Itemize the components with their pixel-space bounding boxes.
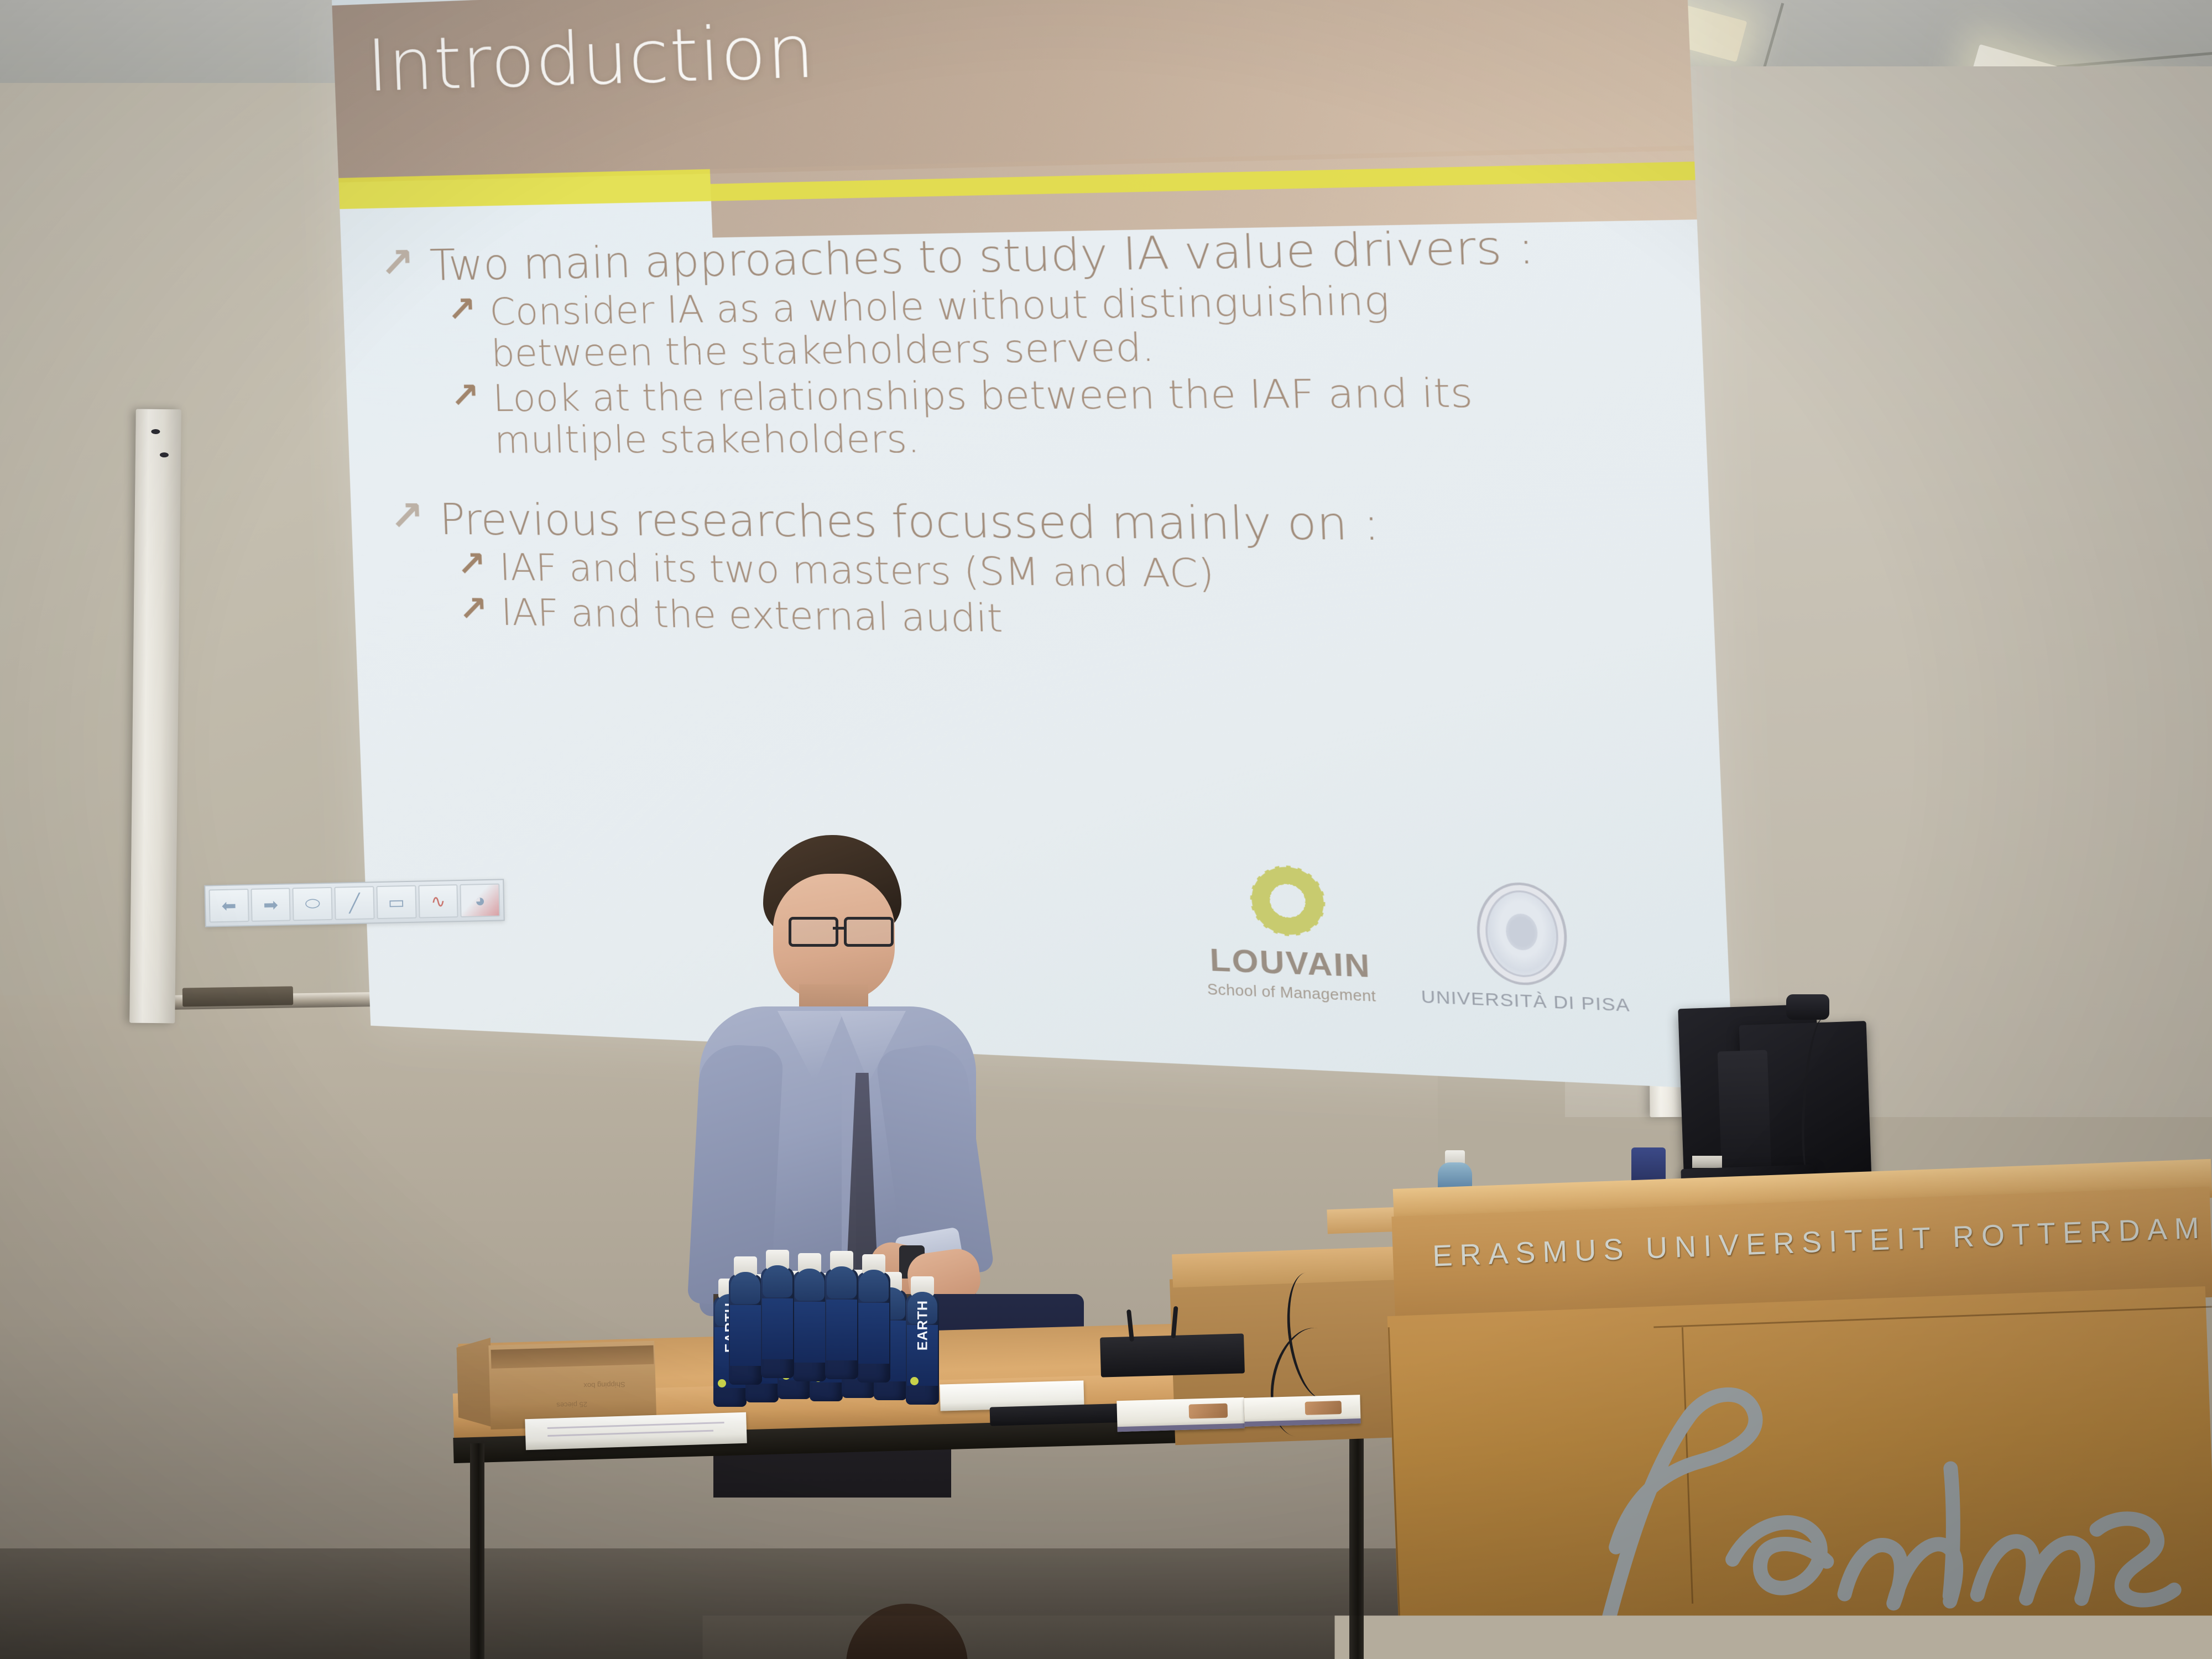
wireless-receiver xyxy=(1100,1333,1245,1377)
arrow-up-right-icon: ↗ xyxy=(389,495,425,537)
next-slide-button[interactable]: ➡ xyxy=(251,888,291,921)
arrow-up-right-icon: ↗ xyxy=(450,378,480,413)
cardboard-box: Shipping box 25 pieces xyxy=(488,1324,690,1430)
bullet-item: ↗ Consider IA as a whole without disting… xyxy=(446,276,1562,375)
box-side-panel xyxy=(456,1338,493,1428)
presentation-toolbar[interactable]: ⬅ ➡ ⬭ ╱ ▭ ∿ ◕ xyxy=(204,879,504,927)
booklet xyxy=(1244,1395,1360,1427)
floor xyxy=(0,1548,1438,1659)
previous-slide-button[interactable]: ⬅ xyxy=(208,889,249,922)
box-print-top: Shipping box xyxy=(583,1380,625,1390)
water-bottle xyxy=(729,1274,762,1385)
webcam-icon xyxy=(1786,994,1829,1020)
louvain-logo-subtitle: School of Management xyxy=(1207,981,1376,1005)
lecture-hall-scene: Introduction ↗ Two main approaches to st… xyxy=(0,0,2212,1659)
arrow-up-right-icon: ↗ xyxy=(456,546,487,581)
whiteboard-tray-cap xyxy=(182,986,294,1006)
booklet xyxy=(1117,1397,1244,1432)
screen-button[interactable]: ▭ xyxy=(376,885,416,919)
pisa-logo-name: UNIVERSITÀ DI PISA xyxy=(1421,987,1630,1016)
projected-slide: Introduction ↗ Two main approaches to st… xyxy=(332,0,1734,1090)
slide-title: Introduction xyxy=(366,9,817,108)
louvain-logo-name: LOUVAIN xyxy=(1206,941,1376,985)
louvain-logo: LOUVAIN School of Management xyxy=(1202,863,1376,1005)
bullet-text: IAF and its two masters (SM and AC) xyxy=(499,547,1215,596)
pen-button[interactable]: ╱ xyxy=(335,886,375,920)
box-print-bottom: 25 pieces xyxy=(556,1400,587,1410)
color-palette-button[interactable]: ◕ xyxy=(460,883,500,917)
erasmus-signature-logo xyxy=(1560,1360,2206,1659)
bullet-text: Previous researches focussed mainly on : xyxy=(439,495,1380,549)
table-leg xyxy=(470,1443,484,1659)
screen-mount-rail-left xyxy=(129,409,181,1024)
slide-logo-row: LOUVAIN School of Management UNIVERSITÀ … xyxy=(1202,863,1631,1016)
pisa-logo: UNIVERSITÀ DI PISA xyxy=(1416,879,1630,1016)
bullet-item: ↗ Previous researches focussed mainly on… xyxy=(389,495,1570,551)
bullet-text: Consider IA as a whole without distingui… xyxy=(489,276,1562,374)
bullet-item: ↗ IAF and the external audit xyxy=(458,591,1574,648)
water-bottle xyxy=(761,1267,794,1378)
box-interior xyxy=(491,1345,654,1369)
water-bottle xyxy=(825,1269,858,1379)
bullet-spacer xyxy=(388,464,1568,498)
glasses-icon xyxy=(789,917,894,942)
arrow-up-right-icon: ↗ xyxy=(379,242,415,284)
bullet-item: ↗ Look at the relationships between the … xyxy=(450,371,1566,461)
pisa-seal-icon xyxy=(1475,881,1569,987)
pointer-oval-button[interactable]: ⬭ xyxy=(293,887,333,921)
bottle-brand: EARTH xyxy=(915,1299,931,1352)
water-bottle: EARTH xyxy=(906,1294,939,1405)
arrow-up-right-icon: ↗ xyxy=(446,292,477,327)
ink-marker-button[interactable]: ∿ xyxy=(418,884,458,918)
water-bottle xyxy=(793,1271,826,1381)
slide-bullet-list: ↗ Two main approaches to study IA value … xyxy=(379,221,1574,651)
louvain-sunburst-icon xyxy=(1249,864,1327,937)
bullet-text: IAF and the external audit xyxy=(500,592,1004,640)
water-bottle xyxy=(857,1272,890,1383)
arrow-up-right-icon: ↗ xyxy=(458,591,488,626)
bullet-text: Look at the relationships between the IA… xyxy=(492,371,1566,461)
monitor-label xyxy=(1692,1156,1722,1168)
table-leg xyxy=(1349,1432,1364,1659)
water-bottle-group: EARTH EARTH EARTH EARTH xyxy=(713,1272,946,1438)
